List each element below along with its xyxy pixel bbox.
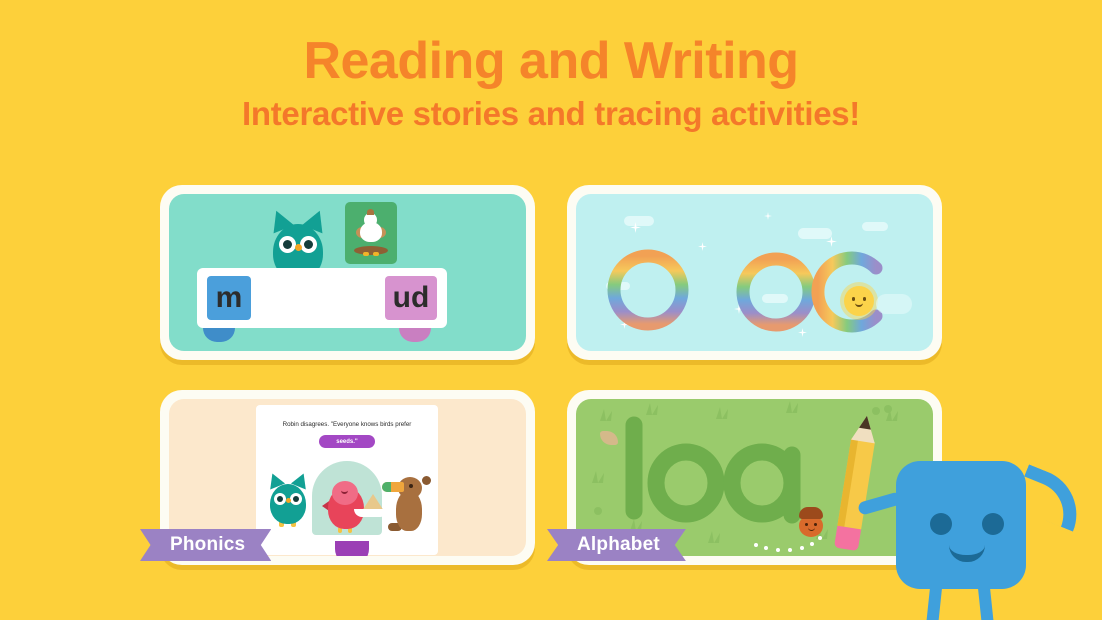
mascot-eye-right	[982, 513, 1004, 535]
card-label-alphabet[interactable]: Alphabet	[547, 529, 686, 561]
abc-scene	[576, 194, 933, 351]
activity-card-alphabet[interactable]	[567, 185, 942, 360]
duck-picture-card	[345, 202, 397, 264]
page-title: Reading and Writing	[0, 34, 1102, 89]
cloud-icon	[876, 294, 912, 314]
rainbow-letters	[576, 194, 933, 351]
owl-character-icon	[266, 473, 310, 529]
tracing-dot-trail	[752, 535, 832, 551]
mascot-leg-left	[926, 584, 943, 620]
letter-tile-ud[interactable]: ud	[385, 276, 437, 320]
page-subtitle: Interactive stories and tracing activiti…	[0, 95, 1102, 133]
mascot-leg-right	[978, 584, 995, 620]
activity-card-phonics[interactable]: m ud	[160, 185, 535, 360]
blue-square-mascot	[884, 447, 1102, 620]
letter-tile-m[interactable]: m	[207, 276, 251, 320]
phonics-artwork: m ud	[169, 194, 526, 351]
story-sentence: Robin disagrees. "Everyone knows birds p…	[262, 421, 432, 428]
page-header: Reading and Writing Interactive stories …	[0, 0, 1102, 133]
tablet-home-button[interactable]	[335, 541, 369, 556]
mascot-eye-left	[930, 513, 952, 535]
story-tablet[interactable]: Robin disagrees. "Everyone knows birds p…	[256, 405, 438, 555]
story-answer-pill[interactable]: seeds."	[319, 435, 375, 448]
mascot-smile	[949, 545, 985, 562]
otter-character-icon	[384, 473, 432, 533]
acorn-character-icon	[798, 507, 824, 537]
card-label-phonics[interactable]: Phonics	[140, 529, 271, 561]
sun-icon	[844, 286, 874, 316]
phonics-word-bar[interactable]: m ud	[197, 268, 447, 328]
alphabet-artwork	[576, 194, 933, 351]
mascot-body	[896, 461, 1026, 589]
robin-character-icon	[322, 481, 370, 533]
plate-icon	[354, 509, 388, 517]
